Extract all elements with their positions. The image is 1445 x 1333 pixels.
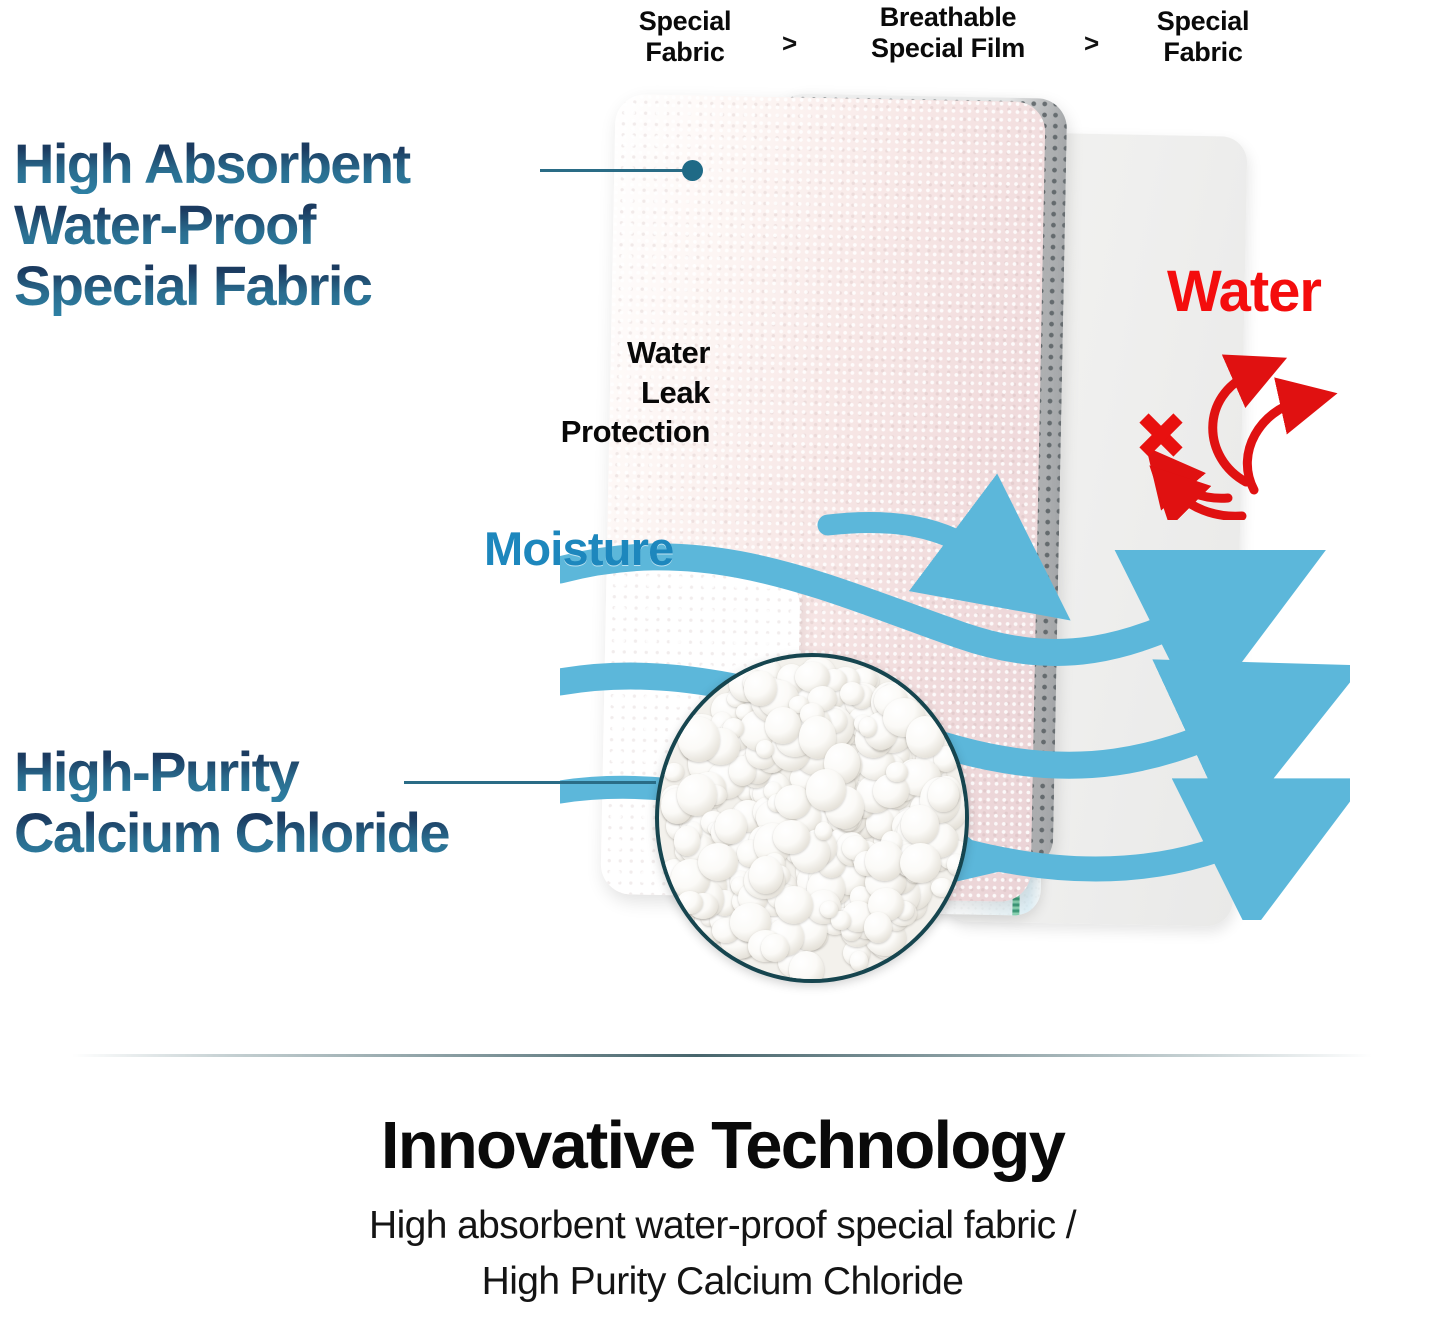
legend-separator-1: > (782, 28, 797, 59)
water-leak-protection-label: Water Leak Protection (470, 333, 710, 452)
callout-high-purity-line-2: Calcium Chloride (14, 802, 574, 863)
water-blocked-x-icon (1144, 418, 1178, 452)
callout-high-purity-line-1: High-Purity (14, 741, 574, 802)
legend-separator-2: > (1084, 28, 1099, 59)
legend-item-breathable-special-film: BreathableSpecial Film (818, 2, 1078, 64)
moisture-label: Moisture (484, 521, 673, 576)
water-label: Water (1167, 258, 1321, 325)
leader-line-high-purity (404, 781, 656, 784)
section-divider (72, 1054, 1372, 1057)
water-repel-arrows (1130, 330, 1380, 520)
bottom-heading: Innovative Technology (0, 1108, 1445, 1183)
callout-high-absorbent-line-3: Special Fabric (14, 255, 534, 316)
bottom-section: Innovative Technology High absorbent wat… (0, 1108, 1445, 1309)
callout-high-absorbent-line-2: Water-Proof (14, 194, 534, 255)
bottom-body-line-1: High absorbent water-proof special fabri… (0, 1199, 1445, 1253)
legend-item-special-fabric-front: SpecialFabric (600, 6, 770, 68)
calcium-chloride-pellet-closeup (655, 653, 969, 983)
leader-line-high-absorbent (540, 169, 692, 172)
callout-high-absorbent-line-1: High Absorbent (14, 133, 534, 194)
leader-dot-high-absorbent (682, 160, 703, 181)
callout-high-purity: High-Purity Calcium Chloride (14, 741, 574, 863)
layer-legend: SpecialFabric > BreathableSpecial Film >… (600, 0, 1300, 86)
bottom-body-line-2: High Purity Calcium Chloride (0, 1255, 1445, 1309)
infographic-canvas: SpecialFabric > BreathableSpecial Film >… (0, 0, 1445, 1333)
legend-item-special-fabric-back: SpecialFabric (1118, 6, 1288, 68)
callout-high-absorbent: High Absorbent Water-Proof Special Fabri… (14, 133, 534, 316)
